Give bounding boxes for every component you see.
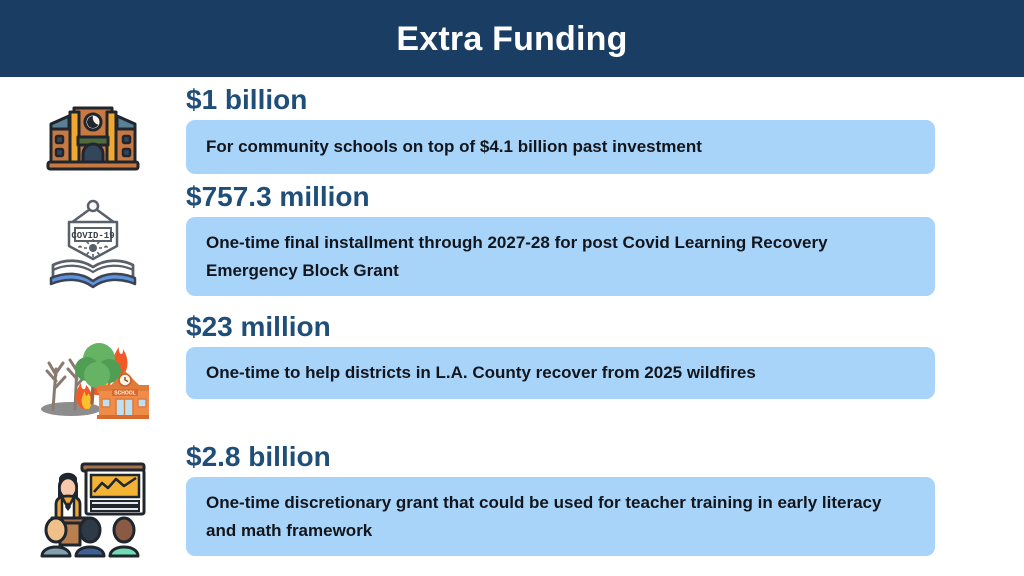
- funding-item-content: $1 billion For community schools on top …: [186, 85, 1024, 174]
- teacher-training-presentation-icon: [0, 442, 186, 568]
- header-banner: Extra Funding: [0, 0, 1024, 77]
- funding-description: One-time discretionary grant that could …: [186, 477, 935, 556]
- funding-item-row: SCHOOL $23 million One-time to help dist…: [0, 312, 1024, 442]
- funding-item-content: $23 million One-time to help districts i…: [186, 312, 1024, 399]
- funding-amount: $757.3 million: [186, 182, 935, 211]
- funding-amount: $1 billion: [186, 85, 935, 114]
- funding-amount: $2.8 billion: [186, 442, 935, 471]
- funding-description: One-time to help districts in L.A. Count…: [186, 347, 935, 399]
- covid-sign-open-book-icon: COVID-19: [0, 182, 186, 302]
- funding-item-row: COVID-19 $757.3 million One: [0, 182, 1024, 312]
- funding-item-list: $1 billion For community schools on top …: [0, 77, 1024, 576]
- funding-item-content: $757.3 million One-time final installmen…: [186, 182, 1024, 296]
- wildfire-school-icon: SCHOOL: [0, 312, 186, 434]
- funding-item-row: $1 billion For community schools on top …: [0, 85, 1024, 182]
- funding-description: For community schools on top of $4.1 bil…: [186, 120, 935, 174]
- infographic-page: Extra Funding: [0, 0, 1024, 576]
- funding-item-row: $2.8 billion One-time discretionary gran…: [0, 442, 1024, 576]
- page-title: Extra Funding: [396, 22, 627, 56]
- school-banner-label: SCHOOL: [114, 391, 135, 397]
- school-building-icon: [0, 85, 186, 177]
- funding-item-content: $2.8 billion One-time discretionary gran…: [186, 442, 1024, 556]
- funding-description: One-time final installment through 2027-…: [186, 217, 935, 296]
- funding-amount: $23 million: [186, 312, 935, 341]
